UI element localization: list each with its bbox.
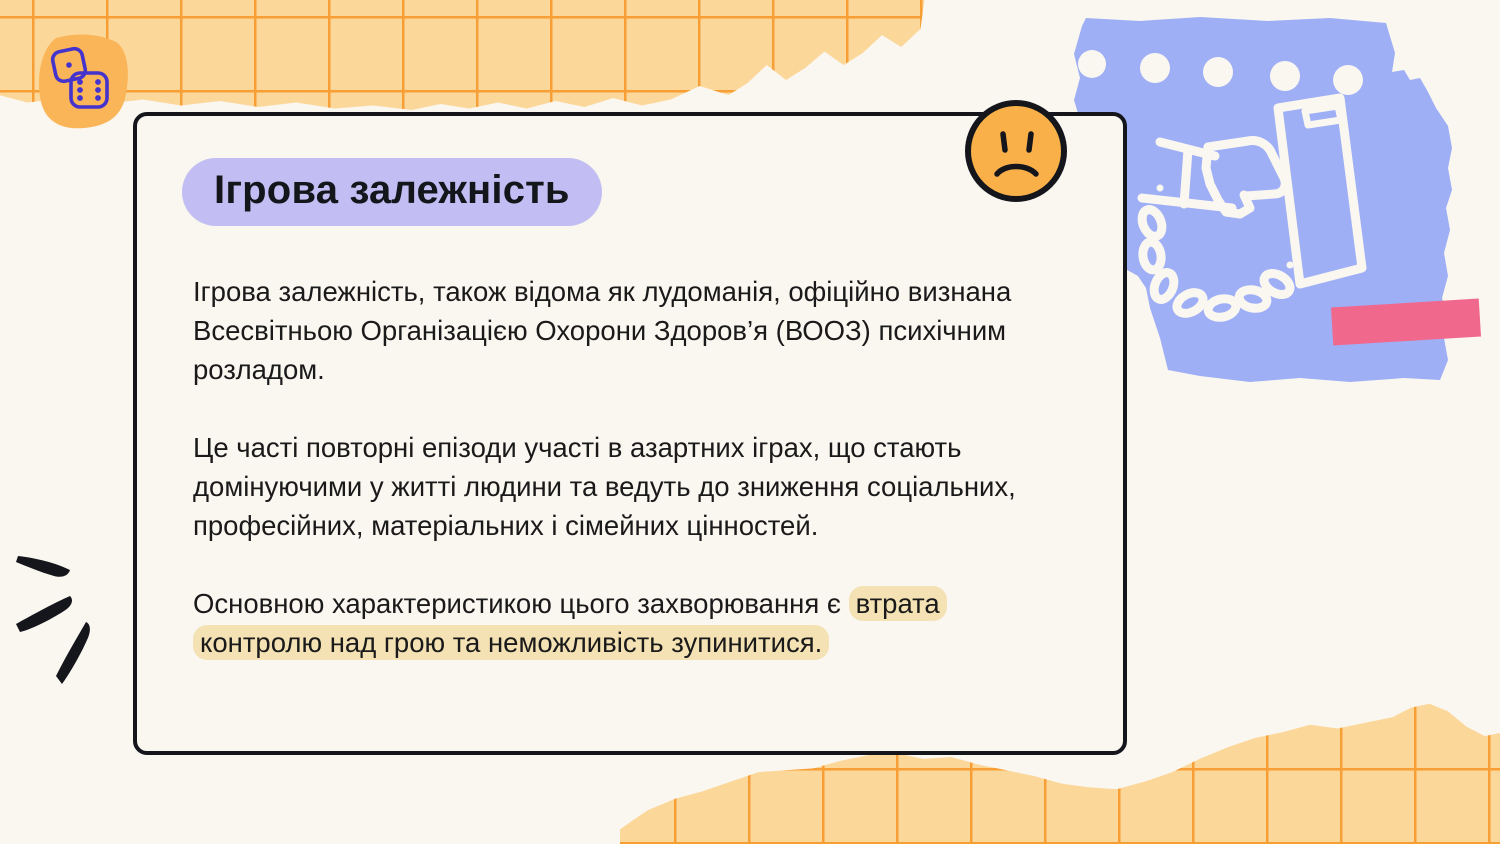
sad-face-badge	[963, 98, 1069, 204]
punch-hole	[1078, 50, 1106, 78]
dice-badge-background	[39, 35, 128, 129]
paragraph-main-characteristic: Основною характеристикою цього захворюва…	[193, 584, 1063, 662]
punch-hole	[1203, 57, 1233, 87]
content-card: Ігрова залежність Ігрова залежність, так…	[133, 112, 1127, 755]
dice-badge	[38, 32, 130, 130]
brush-stroke	[16, 596, 72, 632]
grid-paper-top	[0, 0, 930, 110]
title-pill: Ігрова залежність	[182, 158, 602, 226]
paragraph-definition: Ігрова залежність, також відома як лудом…	[193, 272, 1063, 389]
punch-hole	[1333, 65, 1363, 95]
slide-canvas: Ігрова залежність Ігрова залежність, так…	[0, 0, 1500, 844]
sad-face-icon	[968, 103, 1064, 199]
paragraph-description: Це часті повторні епізоди участі в азарт…	[193, 428, 1063, 545]
brush-strokes-decoration	[8, 528, 128, 708]
punch-hole	[1270, 61, 1300, 91]
brush-stroke	[56, 622, 90, 684]
punch-hole	[1140, 53, 1170, 83]
page-title: Ігрова залежність	[214, 170, 570, 210]
card-body: Ігрова залежність, також відома як лудом…	[193, 272, 1063, 662]
brush-stroke	[16, 556, 70, 577]
paragraph-lead-text: Основною характеристикою цього захворюва…	[193, 588, 849, 619]
